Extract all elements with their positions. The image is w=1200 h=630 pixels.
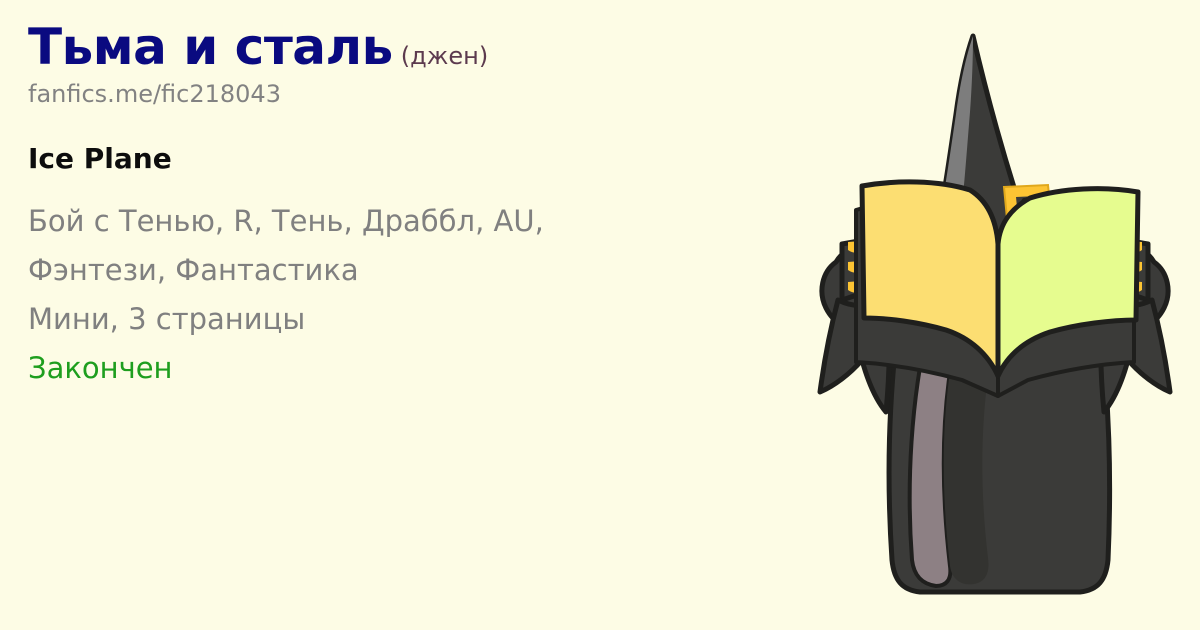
fic-info-column: Тьма и сталь(джен) fanfics.me/fic218043 … bbox=[28, 22, 818, 393]
fanfic-preview-card: Тьма и сталь(джен) fanfics.me/fic218043 … bbox=[0, 0, 1200, 630]
fic-meta-line-tags: Бой с Тенью, R, Тень, Драббл, AU, bbox=[28, 197, 818, 246]
page-title: Тьма и сталь bbox=[28, 18, 393, 76]
fic-meta-block: Бой с Тенью, R, Тень, Драббл, AU, Фэнтез… bbox=[28, 197, 818, 393]
fic-category-label: (джен) bbox=[401, 42, 488, 70]
fic-author-name[interactable]: Ice Plane bbox=[28, 144, 818, 175]
fic-url[interactable]: fanfics.me/fic218043 bbox=[28, 81, 818, 107]
fic-meta-line-genres: Фэнтези, Фантастика bbox=[28, 246, 818, 295]
hooded-reader-illustration bbox=[790, 0, 1200, 630]
status-badge: Закончен bbox=[28, 344, 818, 393]
title-row: Тьма и сталь(джен) bbox=[28, 22, 818, 72]
hooded-reader-svg bbox=[790, 0, 1200, 630]
fic-meta-line-size: Мини, 3 страницы bbox=[28, 295, 818, 344]
